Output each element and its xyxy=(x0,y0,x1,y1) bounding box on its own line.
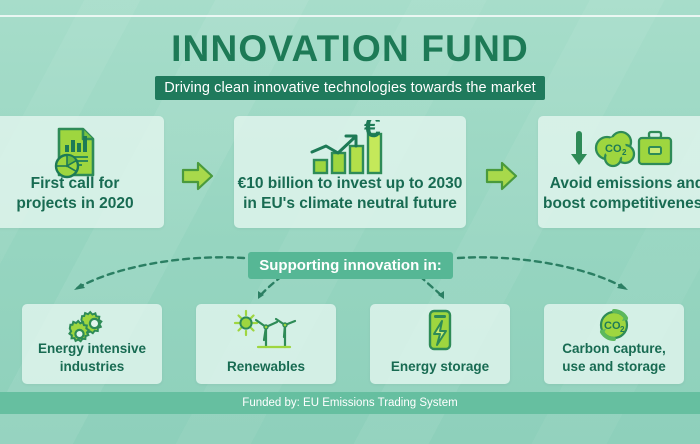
support-card-label: Energy intensive industries xyxy=(22,340,162,375)
sun-wind-turbine-icon xyxy=(196,309,336,351)
support-card-label: Carbon capture, use and storage xyxy=(544,340,684,375)
svg-text:CO: CO xyxy=(604,320,621,332)
flow-card-label: €10 billion to invest up to 2030 in EU's… xyxy=(234,174,466,214)
right-arrow-icon xyxy=(484,160,520,192)
report-document-icon xyxy=(0,124,164,180)
subtitle-text: Driving clean innovative technologies to… xyxy=(164,80,536,96)
co2-reduction-briefcase-icon: CO 2 xyxy=(538,126,700,178)
svg-text:2: 2 xyxy=(620,325,625,334)
svg-text:€: € xyxy=(364,120,381,144)
flow-card-label: Avoid emissions and boost competitivenes… xyxy=(538,174,700,214)
flow-card-investment: € €10 billion to invest up to 2030 in EU… xyxy=(234,116,466,228)
battery-icon xyxy=(370,309,510,351)
support-card-energy-intensive-industries: Energy intensive industries xyxy=(22,304,162,384)
support-card-energy-storage: Energy storage xyxy=(370,304,510,384)
support-card-label: Energy storage xyxy=(370,358,510,375)
infographic-canvas: INNOVATION FUND Driving clean innovative… xyxy=(0,0,700,444)
support-card-label: Renewables xyxy=(196,358,336,375)
co2-recycle-icon: CO 2 xyxy=(544,308,684,344)
supporting-innovation-banner: Supporting innovation in: xyxy=(248,252,453,279)
flow-card-avoid-emissions: CO 2 Avoid emissions and boost competiti… xyxy=(538,116,700,228)
flow-card-label: First call for projects in 2020 xyxy=(0,174,164,214)
support-card-renewables: Renewables xyxy=(196,304,336,384)
right-arrow-icon xyxy=(180,160,216,192)
subtitle-banner: Driving clean innovative technologies to… xyxy=(155,76,545,100)
svg-text:2: 2 xyxy=(622,148,627,157)
svg-text:CO: CO xyxy=(605,143,622,155)
supporting-innovation-text: Supporting innovation in: xyxy=(259,257,441,274)
support-card-carbon-capture: CO 2 Carbon capture, use and storage xyxy=(544,304,684,384)
flow-card-first-call: First call for projects in 2020 xyxy=(0,116,164,228)
top-divider-line xyxy=(0,15,700,17)
growth-chart-euro-icon: € xyxy=(234,120,466,178)
page-title: INNOVATION FUND xyxy=(0,28,700,70)
footer-text: Funded by: EU Emissions Trading System xyxy=(242,397,457,409)
footer-bar: Funded by: EU Emissions Trading System xyxy=(0,392,700,414)
